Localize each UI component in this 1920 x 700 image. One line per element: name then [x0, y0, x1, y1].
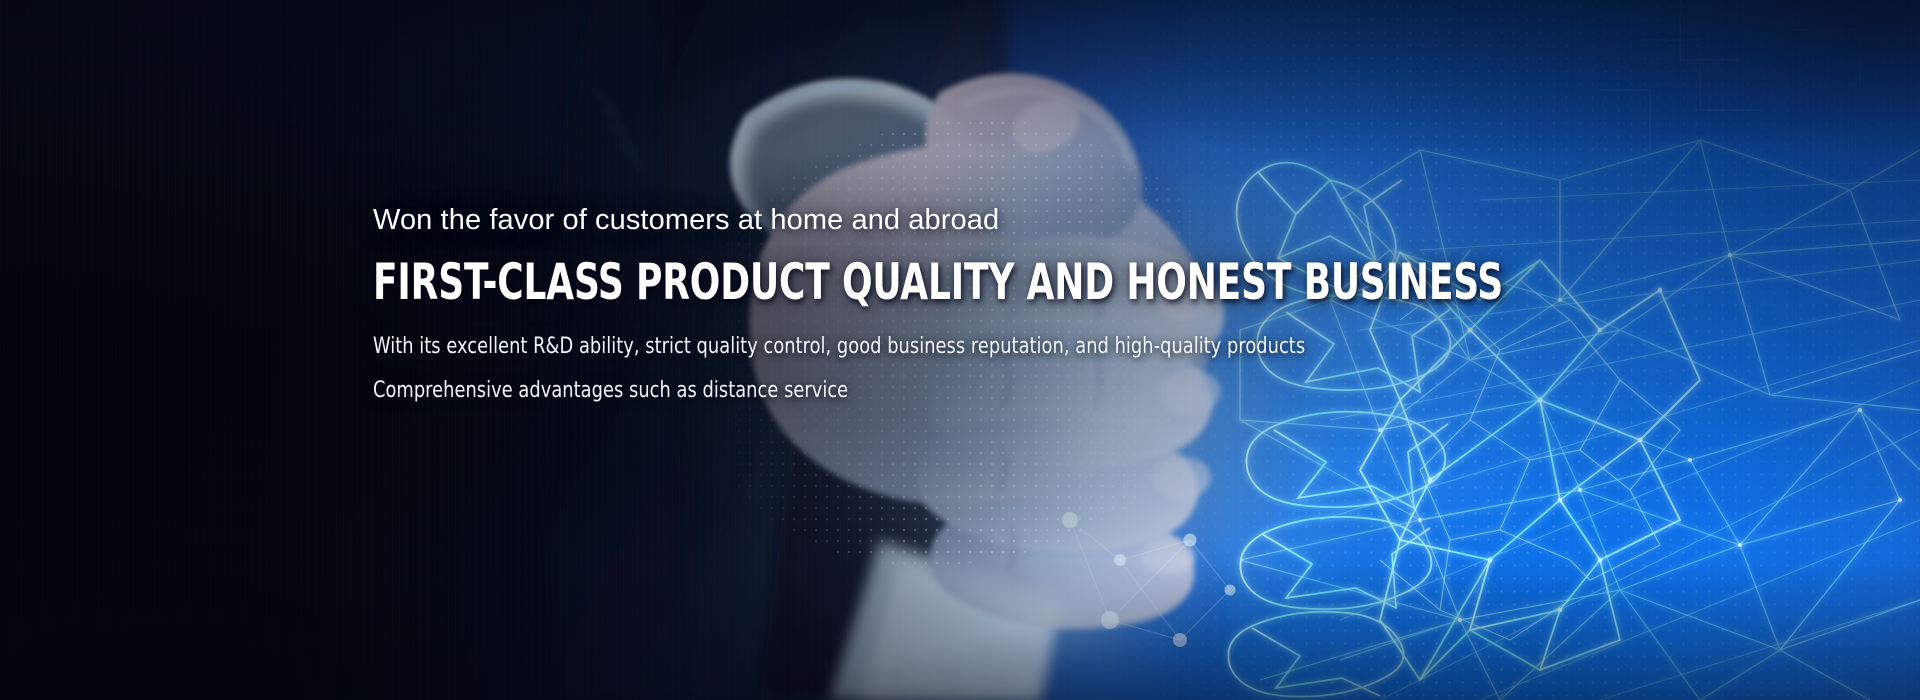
hero-banner: Won the favor of customers at home and a… [0, 0, 1920, 700]
hero-copy-block: Won the favor of customers at home and a… [373, 206, 1573, 402]
hero-body-line-2: Comprehensive advantages such as distanc… [373, 380, 1453, 402]
hero-body-line-1: With its excellent R&D ability, strict q… [373, 336, 1453, 358]
hero-eyebrow: Won the favor of customers at home and a… [373, 206, 1573, 235]
hero-headline: FIRST-CLASS PRODUCT QUALITY AND HONEST B… [373, 257, 1333, 307]
